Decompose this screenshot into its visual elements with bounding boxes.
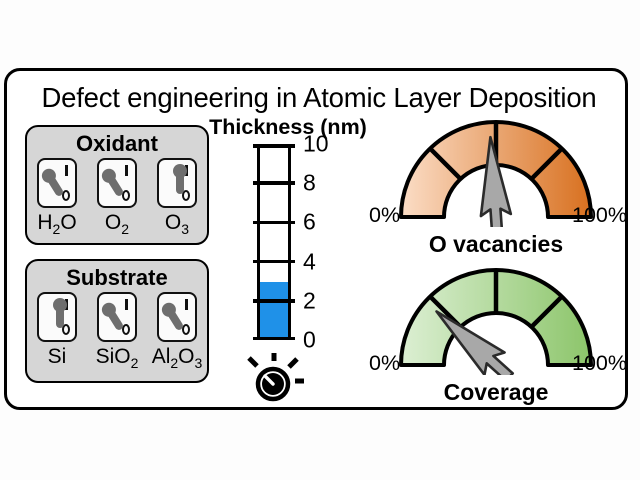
gauge-caption-coverage: Coverage: [367, 379, 625, 406]
toggle-on-mark-icon: [125, 299, 128, 310]
gauge-o-vacancies-dial: [393, 119, 599, 227]
switch-cell-o3[interactable]: O3: [150, 158, 204, 234]
switch-label-sio2: SiO2: [96, 346, 139, 368]
switch-cell-si[interactable]: Si: [30, 292, 84, 368]
oxidant-panel: Oxidant H2O: [25, 125, 209, 245]
thickness-bar-track[interactable]: [257, 144, 291, 340]
oxidant-panel-title: Oxidant: [27, 131, 207, 157]
toggle-switch-si[interactable]: [37, 292, 77, 342]
rotary-knob-icon[interactable]: [247, 353, 305, 403]
toggle-switch-h2o[interactable]: [37, 158, 77, 208]
thickness-tick-label: 10: [303, 133, 329, 156]
toggle-lever-icon[interactable]: [39, 166, 67, 199]
thickness-tick-label: 0: [303, 329, 316, 352]
figure-frame: Defect engineering in Atomic Layer Depos…: [4, 68, 628, 410]
toggle-lever-icon[interactable]: [173, 164, 187, 194]
switch-label-si: Si: [48, 346, 67, 368]
thickness-tick-label: 6: [303, 211, 316, 234]
thickness-tick-label: 8: [303, 172, 316, 195]
oxidant-switch-row: H2O O2: [27, 158, 207, 234]
thickness-tick-mark: [253, 260, 295, 264]
gauge-caption-o-vacancies: O vacancies: [367, 231, 625, 258]
gauge-min-label-coverage: 0%: [369, 351, 400, 376]
thickness-tick-label: 2: [303, 289, 316, 312]
gauge-coverage-dial: [393, 267, 599, 375]
gauge-coverage: 0% 100% Coverage: [367, 267, 625, 419]
switch-cell-sio2[interactable]: SiO2: [90, 292, 144, 368]
gauge-min-label-o-vacancies: 0%: [369, 203, 400, 228]
switch-label-h2o: H2O: [37, 212, 76, 234]
page-title: Defect engineering in Atomic Layer Depos…: [7, 83, 631, 113]
substrate-switch-row: Si SiO2: [27, 292, 207, 368]
toggle-switch-o3[interactable]: [157, 158, 197, 208]
figure-canvas: Defect engineering in Atomic Layer Depos…: [0, 0, 640, 480]
thickness-tick-mark: [253, 299, 295, 303]
toggle-switch-al2o3[interactable]: [157, 292, 197, 342]
toggle-switch-sio2[interactable]: [97, 292, 137, 342]
switch-cell-al2o3[interactable]: Al2O3: [150, 292, 204, 368]
lever-knob-icon: [173, 164, 187, 178]
thickness-title: Thickness (nm): [209, 115, 367, 140]
switch-label-o3: O3: [165, 212, 189, 234]
toggle-lever-icon[interactable]: [99, 166, 127, 199]
switch-cell-o2[interactable]: O2: [90, 158, 144, 234]
thickness-tick-mark: [253, 144, 295, 148]
lever-knob-icon: [53, 298, 67, 312]
gauge-max-label-o-vacancies: 100%: [572, 203, 627, 228]
toggle-on-mark-icon: [185, 299, 188, 310]
thickness-tick-mark: [253, 221, 295, 225]
substrate-panel: Substrate Si: [25, 259, 209, 383]
gauge-o-vacancies: 0% 100% O vacancies: [367, 119, 625, 271]
toggle-lever-icon[interactable]: [159, 300, 187, 333]
thickness-bar-wrap[interactable]: 1086420: [257, 144, 291, 340]
thickness-tick-mark: [253, 337, 295, 341]
switch-label-al2o3: Al2O3: [152, 346, 203, 368]
thickness-bar-fill: [260, 282, 288, 337]
substrate-panel-title: Substrate: [27, 265, 207, 291]
toggle-on-mark-icon: [65, 165, 68, 176]
switch-cell-h2o[interactable]: H2O: [30, 158, 84, 234]
toggle-lever-icon[interactable]: [99, 300, 127, 333]
gauge-max-label-coverage: 100%: [572, 351, 627, 376]
thickness-tick-label: 4: [303, 250, 316, 273]
toggle-lever-icon[interactable]: [53, 298, 67, 328]
thickness-tick-mark: [253, 181, 295, 185]
thickness-meter: Thickness (nm) 1086420: [213, 115, 363, 405]
toggle-switch-o2[interactable]: [97, 158, 137, 208]
toggle-on-mark-icon: [125, 165, 128, 176]
switch-label-o2: O2: [105, 212, 129, 234]
